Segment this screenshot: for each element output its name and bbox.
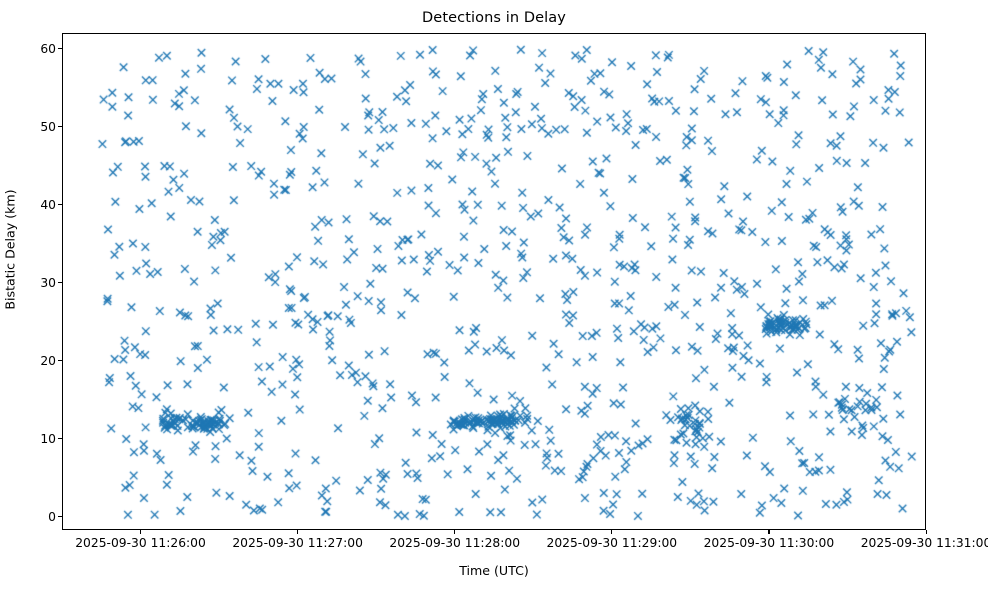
page-title: Detections in Delay [0, 10, 988, 26]
y-tick-label: 10 [40, 432, 56, 446]
x-tick-mark [768, 530, 769, 534]
y-tick-mark [58, 126, 62, 127]
x-tick-label: 2025-09-30 11:28:00 [389, 536, 520, 550]
x-tick-mark [297, 530, 298, 534]
y-tick-label: 30 [40, 276, 56, 290]
y-axis-ticks: 0102030405060 [0, 0, 56, 590]
x-tick-label: 2025-09-30 11:30:00 [704, 536, 835, 550]
y-tick-mark [58, 282, 62, 283]
scatter-plot-canvas [63, 34, 927, 531]
x-tick-label: 2025-09-30 11:29:00 [547, 536, 678, 550]
y-tick-mark [58, 516, 62, 517]
y-tick-label: 60 [40, 42, 56, 56]
y-tick-label: 50 [40, 120, 56, 134]
y-tick-label: 0 [48, 510, 56, 524]
x-tick-mark [926, 530, 927, 534]
x-tick-mark [140, 530, 141, 534]
plot-axes [62, 33, 926, 530]
y-tick-mark [58, 438, 62, 439]
y-tick-mark [58, 48, 62, 49]
x-tick-label: 2025-09-30 11:27:00 [232, 536, 363, 550]
x-tick-mark [611, 530, 612, 534]
y-tick-label: 40 [40, 198, 56, 212]
matplotlib-figure: Detections in Delay 0102030405060 Bistat… [0, 0, 988, 590]
y-tick-label: 20 [40, 354, 56, 368]
y-tick-mark [58, 204, 62, 205]
x-axis-label: Time (UTC) [62, 563, 926, 578]
x-tick-label: 2025-09-30 11:31:00 [861, 536, 988, 550]
x-tick-label: 2025-09-30 11:26:00 [75, 536, 206, 550]
y-tick-mark [58, 360, 62, 361]
x-tick-mark [454, 530, 455, 534]
